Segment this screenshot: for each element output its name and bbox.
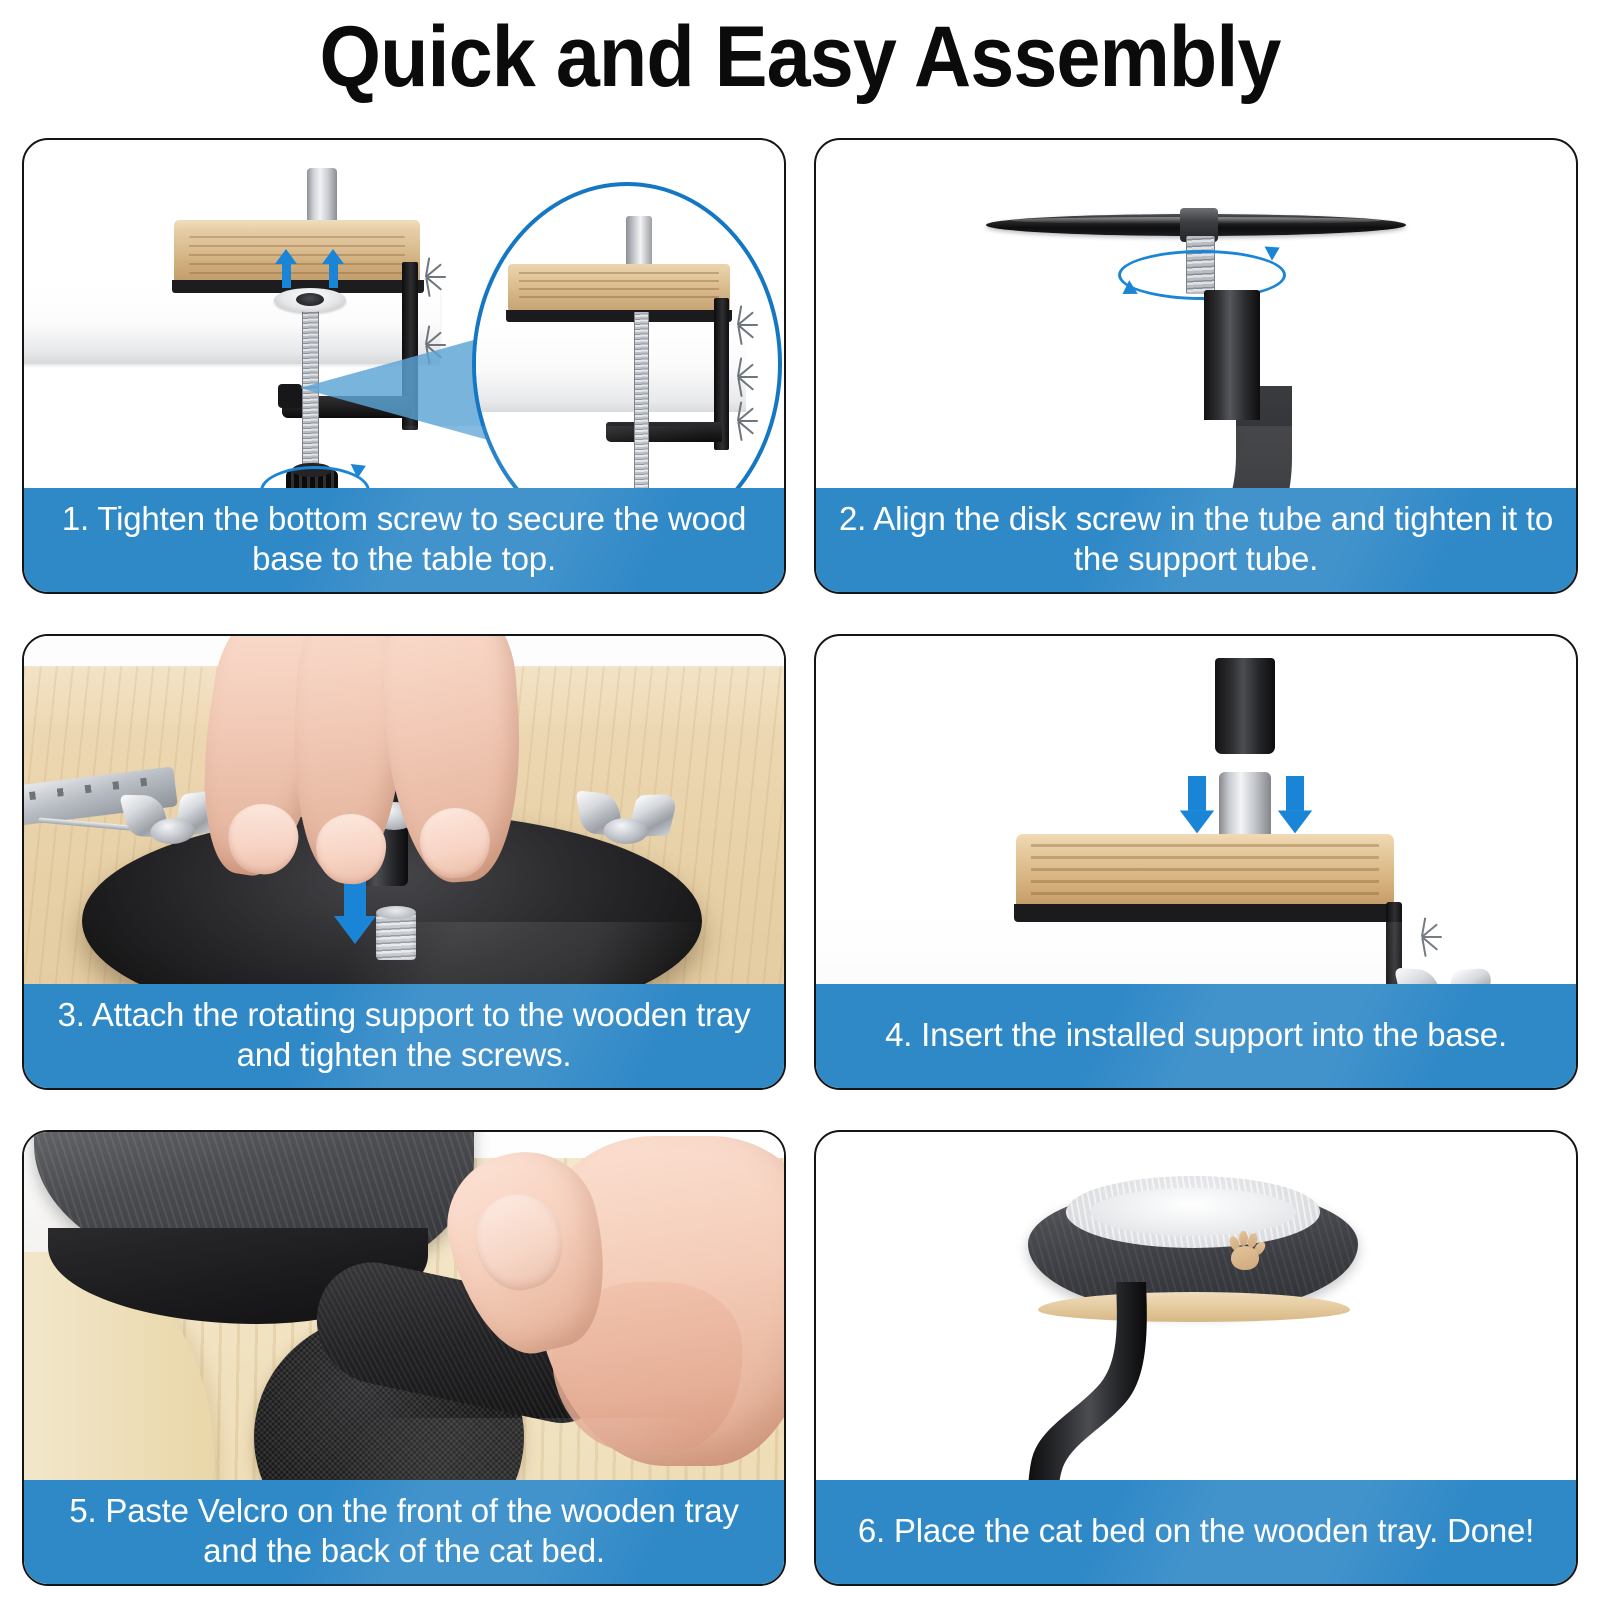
plywood-base xyxy=(174,228,420,282)
step-caption-4: 4. Insert the installed support into the… xyxy=(816,984,1576,1088)
magnifier-cone-icon xyxy=(300,336,488,440)
step-caption-5-text: 5. Paste Velcro on the front of the wood… xyxy=(40,1491,768,1572)
step-caption-3-text: 3. Attach the rotating support to the wo… xyxy=(40,995,768,1076)
step-caption-1: 1. Tighten the bottom screw to secure th… xyxy=(24,488,784,592)
step-caption-3: 3. Attach the rotating support to the wo… xyxy=(24,984,784,1088)
step-panel-1: 1. Tighten the bottom screw to secure th… xyxy=(22,138,786,594)
step-panel-2: 2. Align the disk screw in the tube and … xyxy=(814,138,1578,594)
cat-bed-cushion xyxy=(1090,1188,1296,1236)
paw-print-icon xyxy=(1224,1230,1266,1272)
zoom-metal-pin xyxy=(626,216,652,266)
plywood-base xyxy=(1016,834,1394,906)
step-caption-6-text: 6. Place the cat bed on the wooden tray.… xyxy=(858,1511,1534,1551)
hand xyxy=(174,636,594,926)
sparkle-icon xyxy=(718,306,762,346)
sparkle-icon xyxy=(718,358,762,398)
step-caption-6: 6. Place the cat bed on the wooden tray.… xyxy=(816,1480,1576,1584)
wing-nut-center xyxy=(603,817,648,844)
step-caption-1-text: 1. Tighten the bottom screw to secure th… xyxy=(40,499,768,580)
zoom-plywood-base xyxy=(508,264,730,312)
metal-pin xyxy=(1219,772,1271,840)
support-tube xyxy=(1215,658,1275,754)
zoom-clamp-bottom-arm xyxy=(606,422,722,442)
rotation-ellipse-icon xyxy=(1118,250,1286,300)
steps-grid: 1. Tighten the bottom screw to secure th… xyxy=(22,138,1578,1586)
page-title: Quick and Easy Assembly xyxy=(64,8,1536,107)
sparkle-icon xyxy=(718,402,762,442)
screw-washer xyxy=(274,288,346,312)
rotation-arrowhead-icon xyxy=(1265,240,1284,260)
fingernail xyxy=(315,813,387,885)
step-caption-2: 2. Align the disk screw in the tube and … xyxy=(816,488,1576,592)
step-caption-2-text: 2. Align the disk screw in the tube and … xyxy=(832,499,1560,580)
paw-pad xyxy=(1231,1246,1259,1270)
zoom-rubber-pad xyxy=(506,310,732,322)
step-caption-5: 5. Paste Velcro on the front of the wood… xyxy=(24,1480,784,1584)
infographic-page: Quick and Easy Assembly xyxy=(0,0,1600,1600)
step-panel-6: 6. Place the cat bed on the wooden tray.… xyxy=(814,1130,1578,1586)
step-panel-4: 4. Insert the installed support into the… xyxy=(814,634,1578,1090)
step-panel-5: 5. Paste Velcro on the front of the wood… xyxy=(22,1130,786,1586)
sparkle-icon xyxy=(1402,918,1446,958)
zoom-table-top xyxy=(472,326,746,412)
up-arrow-icon xyxy=(282,262,291,288)
zoom-clamp-screw xyxy=(634,312,649,502)
step-panel-3: 3. Attach the rotating support to the wo… xyxy=(22,634,786,1090)
support-tube-upper xyxy=(1204,290,1260,420)
sparkle-icon xyxy=(406,258,450,298)
step-caption-4-text: 4. Insert the installed support into the… xyxy=(885,1015,1507,1055)
rubber-pad xyxy=(1014,904,1398,922)
up-arrow-icon xyxy=(329,262,338,288)
hand xyxy=(424,1132,784,1472)
